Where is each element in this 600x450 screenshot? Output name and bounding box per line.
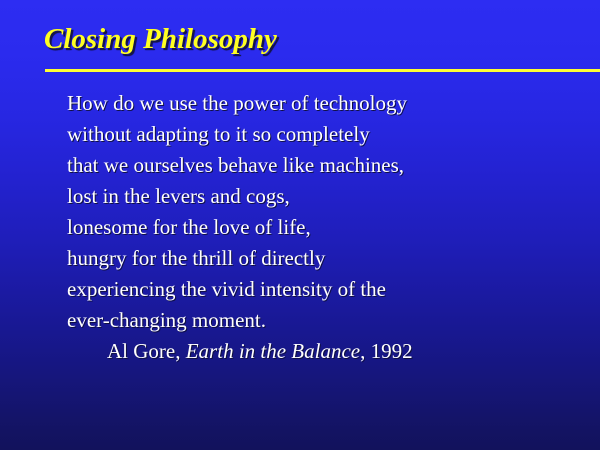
quote-line: lonesome for the love of life, [67,212,587,243]
presentation-slide: Closing Philosophy How do we use the pow… [0,0,600,450]
quote-line: How do we use the power of technology [67,88,587,119]
quote-line: lost in the levers and cogs, [67,181,587,212]
quote-line: ever-changing moment. [67,305,587,336]
title-block: Closing Philosophy [44,22,600,56]
quote-line: without adapting to it so completely [67,119,587,150]
slide-title: Closing Philosophy [44,22,600,56]
quote-attribution: Al Gore, Earth in the Balance, 1992 [67,336,587,367]
quote-line: hungry for the thrill of directly [67,243,587,274]
attribution-author: Al Gore, [107,339,180,363]
quote-line: that we ourselves behave like machines, [67,150,587,181]
quote-line: experiencing the vivid intensity of the [67,274,587,305]
title-underline-rule [45,69,600,72]
quote-block: How do we use the power of technology wi… [67,88,587,367]
attribution-year: , 1992 [360,339,413,363]
attribution-work-title: Earth in the Balance [186,339,360,363]
